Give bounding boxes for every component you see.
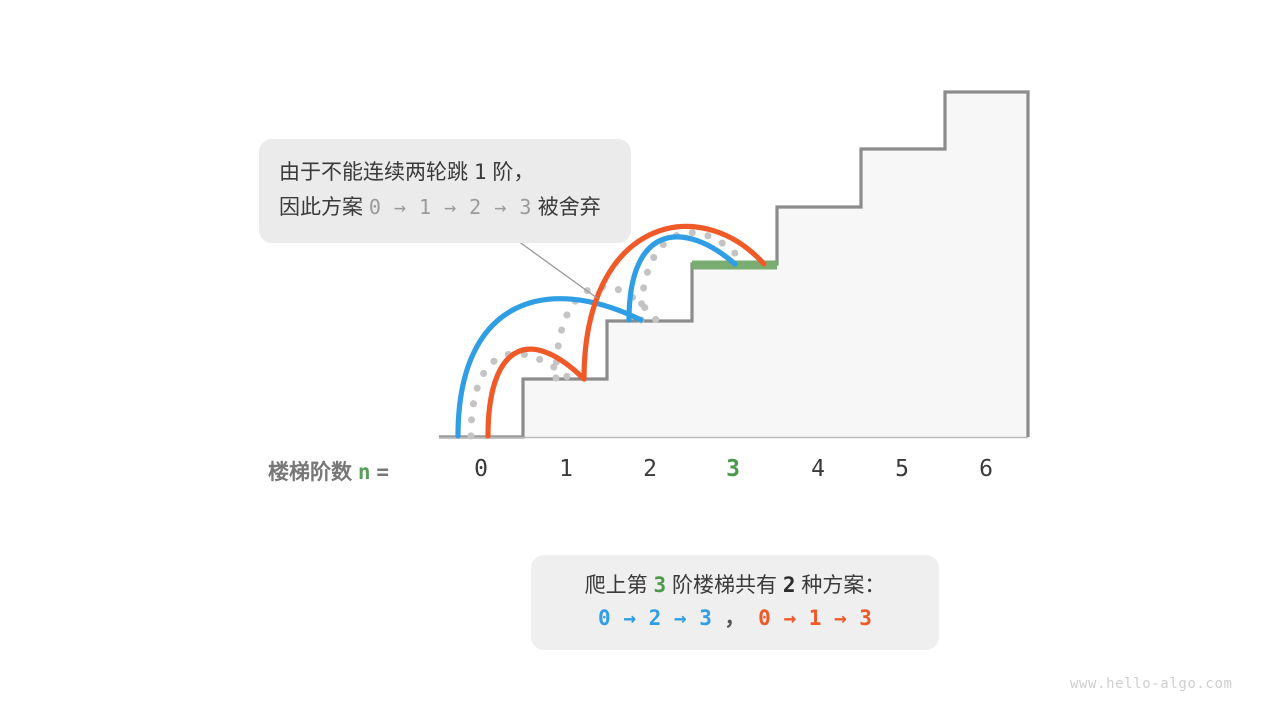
summary-target-step: 3 <box>654 573 667 597</box>
axis-tick-1: 1 <box>536 456 596 482</box>
summary-text-b: 阶楼梯共有 <box>672 574 777 597</box>
figure-canvas: 由于不能连续两轮跳 1 阶， 因此方案 0 → 1 → 2 → 3 被舍弃 楼梯… <box>0 0 1280 720</box>
summary-plan-2: 0 → 1 → 3 <box>758 606 872 630</box>
summary-box: 爬上第 3 阶楼梯共有 2 种方案： 0 → 2 → 3 ， 0 → 1 → 3 <box>531 555 939 650</box>
axis-title-text: 楼梯阶数 <box>268 461 352 484</box>
summary-line-1: 爬上第 3 阶楼梯共有 2 种方案： <box>541 569 929 602</box>
axis-tick-0: 0 <box>451 456 511 482</box>
callout-line-2: 因此方案 0 → 1 → 2 → 3 被舍弃 <box>279 190 611 225</box>
summary-text-c: 种方案： <box>801 574 885 597</box>
summary-plan-separator: ， <box>725 606 746 630</box>
axis-row: 楼梯阶数 n = 0 1 2 3 4 5 6 <box>0 456 1280 496</box>
axis-title: 楼梯阶数 n = <box>268 456 389 486</box>
callout-box: 由于不能连续两轮跳 1 阶， 因此方案 0 → 1 → 2 → 3 被舍弃 <box>259 139 631 243</box>
callout-line-1: 由于不能连续两轮跳 1 阶， <box>279 155 611 190</box>
callout-line2-suffix: 被舍弃 <box>538 196 601 219</box>
callout-line1-number: 1 <box>474 160 487 184</box>
summary-line-2: 0 → 2 → 3 ， 0 → 1 → 3 <box>541 602 929 634</box>
axis-tick-3: 3 <box>703 456 763 482</box>
callout-line1-suffix: 阶， <box>492 161 534 184</box>
axis-tick-5: 5 <box>872 456 932 482</box>
callout-line2-prefix: 因此方案 <box>279 196 363 219</box>
axis-variable-n: n <box>358 460 371 484</box>
axis-tick-2: 2 <box>620 456 680 482</box>
watermark: www.hello-algo.com <box>1070 676 1233 692</box>
summary-plan-1: 0 → 2 → 3 <box>598 606 712 630</box>
axis-tick-4: 4 <box>788 456 848 482</box>
callout-line1-prefix: 由于不能连续两轮跳 <box>279 161 468 184</box>
summary-text-a: 爬上第 <box>585 574 648 597</box>
summary-solution-count: 2 <box>783 573 796 597</box>
axis-tick-6: 6 <box>956 456 1016 482</box>
axis-equals-sign: = <box>376 460 389 484</box>
callout-discarded-sequence: 0 → 1 → 2 → 3 <box>369 195 532 219</box>
